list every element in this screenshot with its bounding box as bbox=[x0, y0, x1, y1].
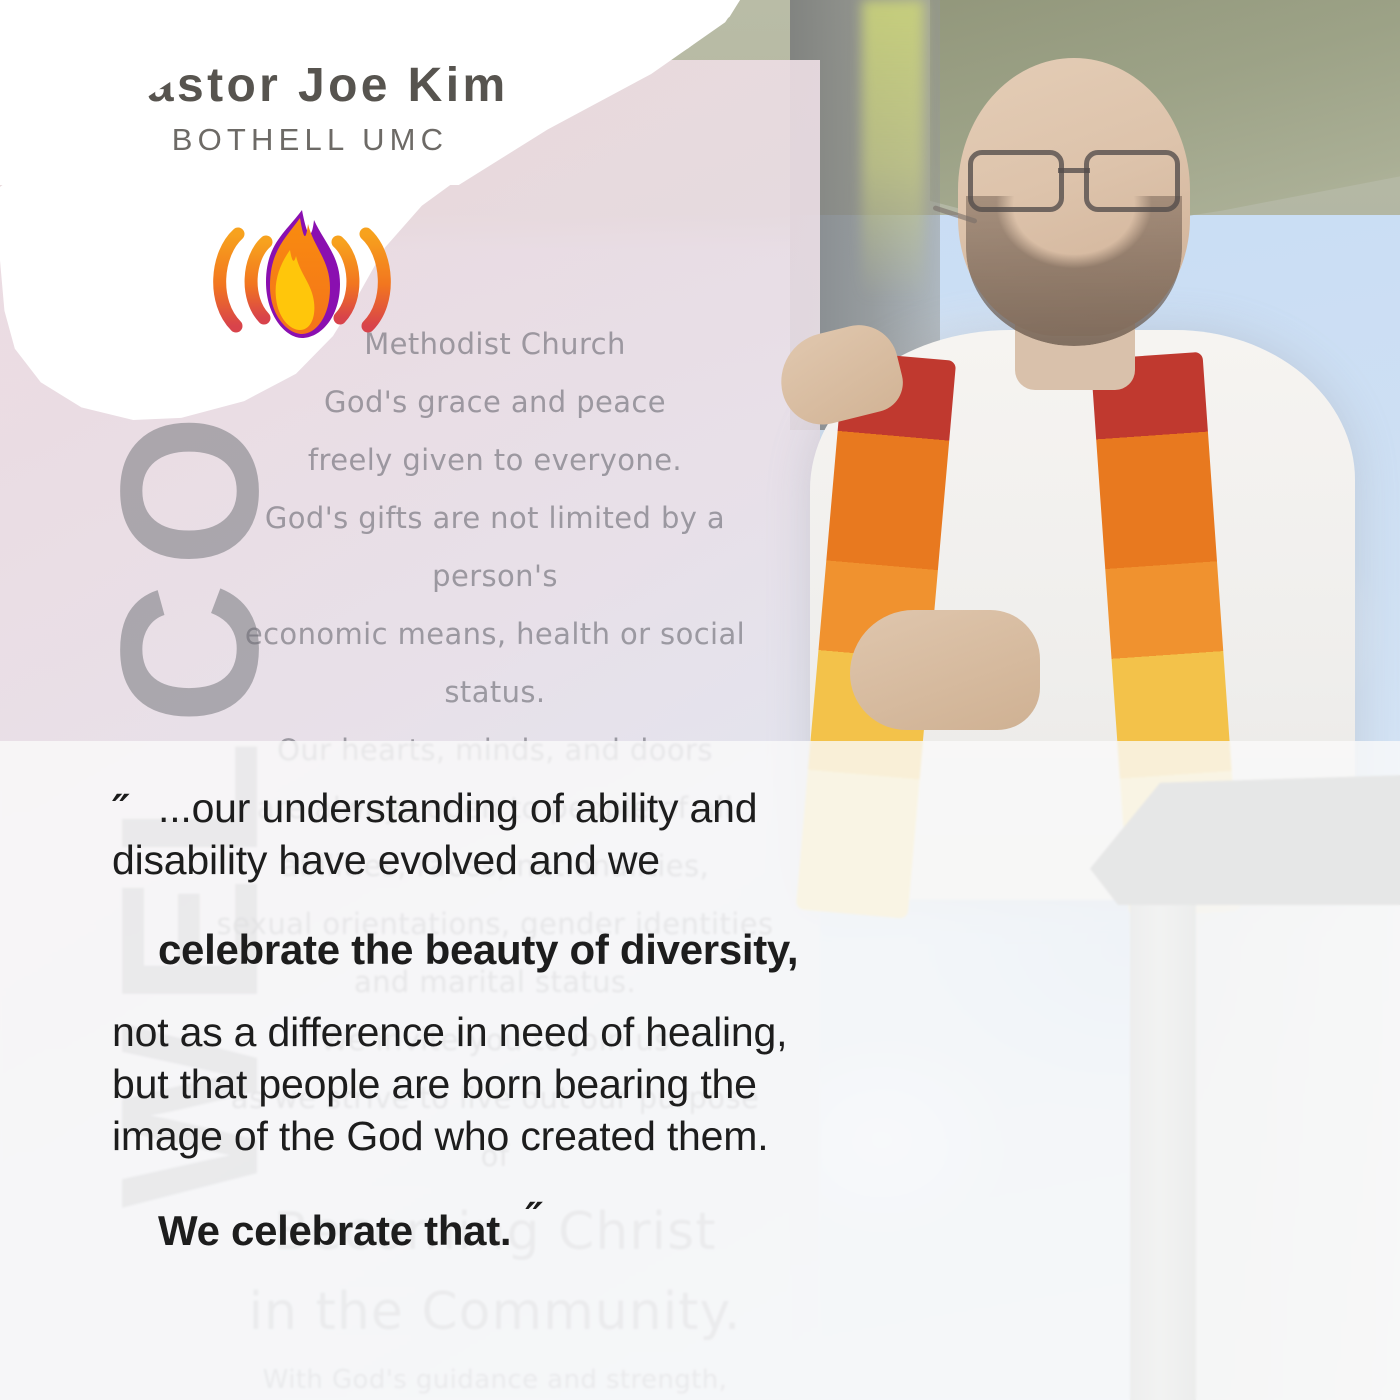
pull-quote: ″ ...our understanding of ability and di… bbox=[112, 782, 832, 1257]
eyeglass-bridge bbox=[1058, 168, 1090, 173]
banner-line: God's gifts are not limited by a person'… bbox=[265, 501, 725, 593]
close-quote-mark: ″ bbox=[511, 1198, 541, 1238]
banner-line: economic means, health or social status. bbox=[245, 617, 745, 709]
eyeglass-lens-left bbox=[968, 150, 1064, 212]
banner-line: God's grace and peace bbox=[324, 385, 666, 419]
open-quote-mark: ″ bbox=[112, 790, 128, 830]
speaker-lower-hand bbox=[850, 610, 1040, 730]
banner-line: freely given to everyone. bbox=[308, 443, 682, 477]
flame-soundwave-logo bbox=[196, 198, 408, 358]
quote-line: not as a difference in need of healing, bbox=[112, 1006, 832, 1058]
eyeglass-lens-right bbox=[1084, 150, 1180, 212]
quote-line: disability have evolved and we bbox=[112, 834, 832, 886]
quote-closing-text: We celebrate that. bbox=[158, 1207, 511, 1254]
eyeglasses-icon bbox=[966, 150, 1182, 206]
quote-line-emphasis: celebrate the beauty of diversity, bbox=[112, 924, 832, 976]
quote-card-canvas: WELCOME Methodist Church God's grace and… bbox=[0, 0, 1400, 1400]
quote-spacer bbox=[112, 976, 832, 1006]
quote-spacer bbox=[112, 1162, 832, 1198]
speaker-beard bbox=[966, 196, 1182, 346]
quote-line: ...our understanding of ability and bbox=[112, 782, 832, 834]
quote-line: but that people are born bearing the bbox=[112, 1058, 832, 1110]
quote-line: image of the God who created them. bbox=[112, 1110, 832, 1162]
quote-line-closing: We celebrate that.″ bbox=[112, 1198, 832, 1257]
quote-spacer bbox=[112, 886, 832, 924]
